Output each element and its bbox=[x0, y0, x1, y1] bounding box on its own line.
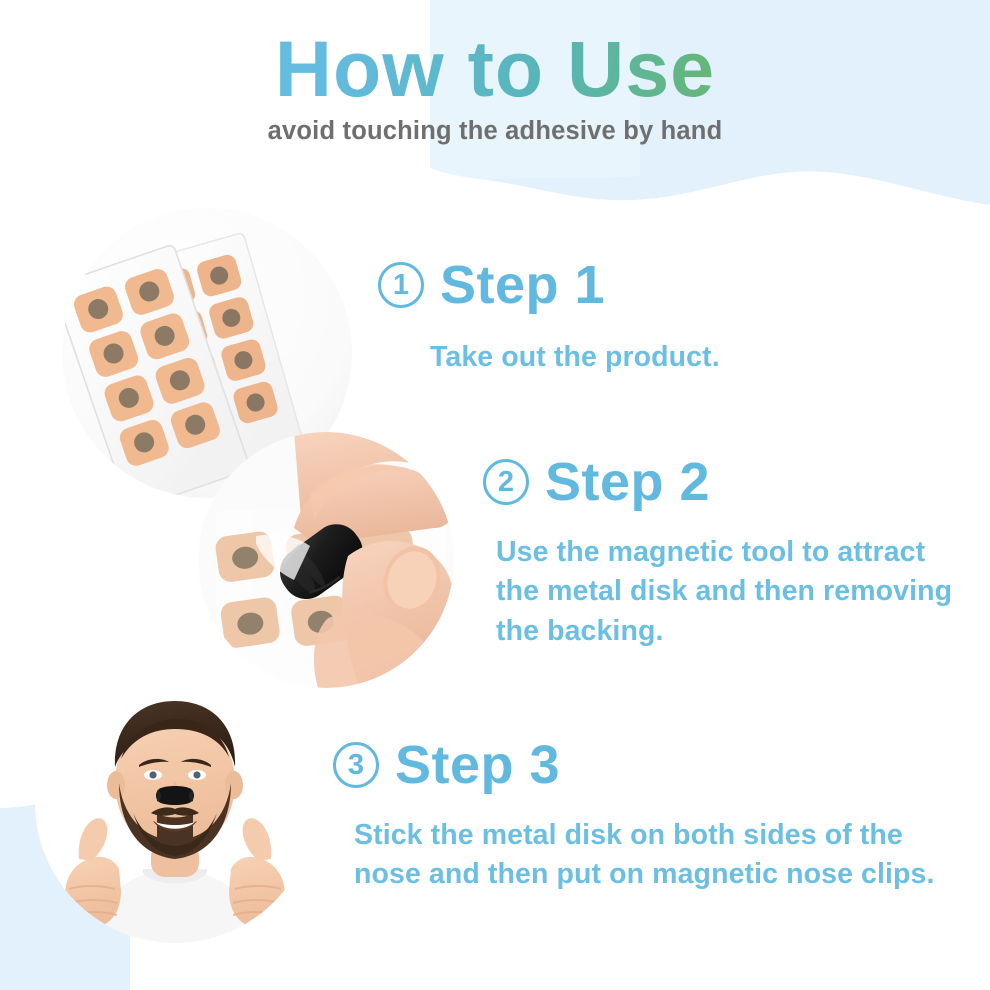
step-1-description: Take out the product. bbox=[430, 338, 720, 377]
step-1-title: Step 1 bbox=[440, 258, 605, 312]
step-3-title: Step 3 bbox=[395, 738, 560, 792]
step-1-heading: 1 Step 1 bbox=[378, 258, 720, 312]
step-2-photo bbox=[198, 432, 454, 688]
step-1: 1 Step 1 Take out the product. bbox=[378, 258, 720, 377]
step-2-title: Step 2 bbox=[545, 455, 710, 509]
step-2: 2 Step 2 Use the magnetic tool to attrac… bbox=[483, 455, 966, 651]
step-1-number-badge: 1 bbox=[378, 262, 424, 308]
step-2-description: Use the magnetic tool to attract the met… bbox=[496, 533, 966, 651]
page-title: How to Use bbox=[0, 0, 990, 111]
step-3-heading: 3 Step 3 bbox=[333, 738, 954, 792]
step-3-number-badge: 3 bbox=[333, 742, 379, 788]
header: How to Use avoid touching the adhesive b… bbox=[0, 0, 990, 146]
page-subtitle: avoid touching the adhesive by hand bbox=[0, 117, 990, 146]
step-3-description: Stick the metal disk on both sides of th… bbox=[354, 816, 954, 895]
step-3-photo bbox=[35, 663, 315, 943]
infographic-page: How to Use avoid touching the adhesive b… bbox=[0, 0, 990, 990]
step-3: 3 Step 3 Stick the metal disk on both si… bbox=[333, 738, 954, 895]
step-2-heading: 2 Step 2 bbox=[483, 455, 966, 509]
step-2-number-badge: 2 bbox=[483, 459, 529, 505]
